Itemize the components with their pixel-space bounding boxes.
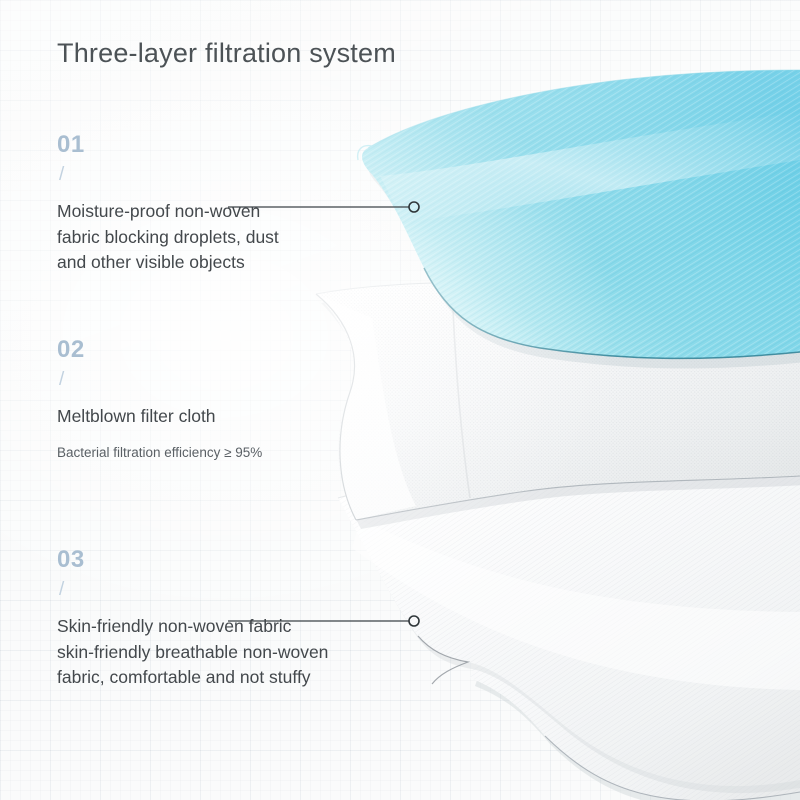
callout-block-02: 02 / Meltblown filter cloth Bacterial fi… (57, 338, 377, 463)
callout-block-01: 01 / Moisture-proof non-woven fabric blo… (57, 133, 357, 276)
callout-slash-03: / (59, 580, 387, 599)
product-feature-illustration: Three-layer filtration system 01 / Moist… (0, 0, 800, 800)
callout-slash-01: / (59, 165, 357, 184)
page-title: Three-layer filtration system (57, 38, 396, 69)
callout-body-01: Moisture-proof non-woven fabric blocking… (57, 199, 357, 276)
callout-body-03: Skin-friendly non-woven fabric skin-frie… (57, 614, 387, 691)
callout-number-02: 02 (57, 338, 377, 362)
callout-number-03: 03 (57, 548, 387, 572)
callout-body-02: Meltblown filter cloth (57, 404, 377, 430)
callout-slash-02: / (59, 370, 377, 389)
callout-number-01: 01 (57, 133, 357, 157)
callout-subtext-02: Bacterial filtration efficiency ≥ 95% (57, 444, 377, 463)
callout-block-03: 03 / Skin-friendly non-woven fabric skin… (57, 548, 387, 691)
